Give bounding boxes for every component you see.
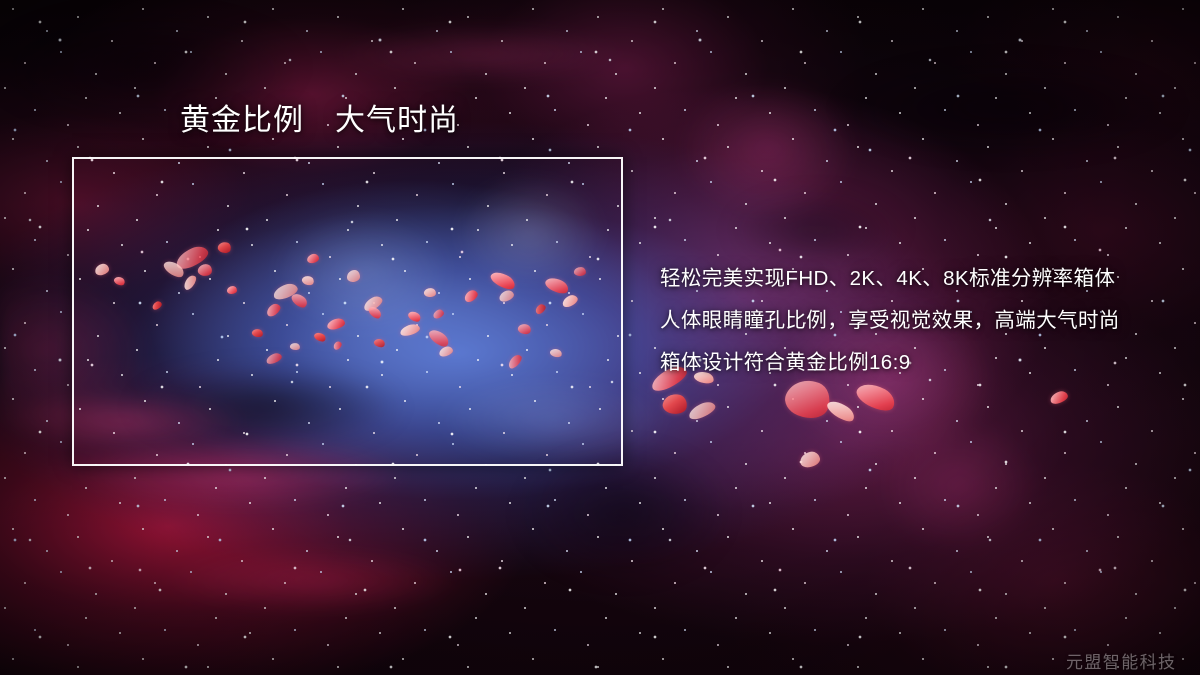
panel-starfield-mid (72, 157, 623, 466)
flower-petal (113, 275, 126, 287)
flower-petal (94, 263, 110, 277)
flower-petal (367, 304, 383, 320)
flower-petal (462, 288, 479, 304)
flower-petal (488, 268, 517, 292)
flower-petal (332, 340, 343, 351)
display-panel-content (72, 157, 623, 466)
flower-petal (306, 253, 319, 264)
flower-petal (313, 331, 327, 344)
flower-petal (427, 326, 452, 349)
panel-nebula-background (72, 157, 623, 466)
flower-petal (265, 352, 283, 366)
flower-petal (661, 392, 689, 417)
company-watermark: 元盟智能科技 (1066, 648, 1176, 673)
flower-petal (687, 399, 718, 422)
flower-petal (197, 263, 213, 277)
flower-petal (399, 323, 421, 338)
panel-nebula-filaments (72, 157, 623, 466)
body-line-2: 人体眼睛瞳孔比例，享受视觉效果，高端大气时尚 (660, 300, 1160, 342)
body-line-3: 箱体设计符合黄金比例16:9 (660, 342, 1160, 384)
flower-petal (498, 289, 515, 303)
panel-starfield-fine (72, 157, 623, 466)
flower-petal (217, 240, 233, 254)
flower-petal (264, 302, 282, 319)
flower-petal (1049, 389, 1070, 405)
flower-petal (227, 286, 237, 294)
flower-petal (289, 342, 300, 351)
flower-petal (251, 328, 264, 339)
flower-petal (438, 345, 454, 358)
panel-nebula-dust (72, 157, 623, 466)
flower-petal (301, 274, 315, 287)
flower-petal (182, 273, 199, 291)
flower-petal (799, 450, 821, 468)
flower-petal (407, 309, 423, 324)
flower-petal (326, 317, 346, 331)
flower-petal (347, 270, 360, 282)
flower-petal (517, 322, 533, 336)
presentation-slide: 黄金比例 大气时尚 轻松完美实现FHD、2K、4K、8K标准分辨率箱体 人体眼睛… (0, 0, 1200, 675)
flower-petal (162, 258, 187, 281)
flower-petal (362, 294, 385, 313)
flower-petal (151, 300, 163, 311)
flower-petal (549, 347, 563, 358)
flower-petal (432, 308, 445, 320)
flower-petal (825, 397, 858, 425)
panel-starfield-bright (72, 157, 623, 466)
panel-petal-field (72, 157, 623, 466)
flower-petal (373, 337, 386, 349)
display-panel-frame[interactable] (72, 157, 623, 466)
body-line-1: 轻松完美实现FHD、2K、4K、8K标准分辨率箱体 (660, 258, 1160, 300)
slide-title: 黄金比例 大气时尚 (180, 102, 459, 140)
flower-petal (534, 303, 548, 316)
flower-petal (290, 291, 310, 311)
body-copy-block: 轻松完美实现FHD、2K、4K、8K标准分辨率箱体 人体眼睛瞳孔比例，享受视觉效… (660, 258, 1160, 384)
flower-petal (574, 266, 587, 276)
flower-petal (272, 281, 300, 301)
flower-petal (173, 243, 211, 272)
flower-petal (423, 287, 436, 298)
flower-petal (561, 293, 580, 309)
flower-petal (506, 353, 524, 371)
flower-petal (543, 274, 570, 296)
